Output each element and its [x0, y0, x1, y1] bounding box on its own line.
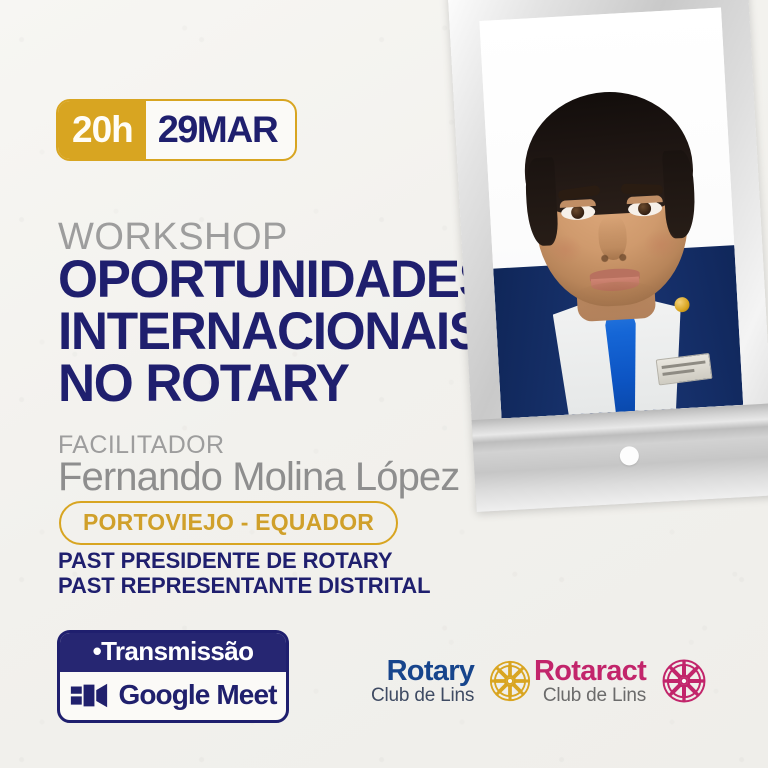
google-meet-label: Google Meet	[118, 679, 276, 711]
google-meet-icon	[69, 681, 109, 710]
transmission-badge: •Transmissão Google Meet	[57, 630, 289, 723]
facilitator-photo-frame	[448, 0, 768, 512]
event-hour: 20h	[57, 100, 146, 160]
rotary-club-subtitle: Club de Lins	[371, 686, 474, 705]
google-meet-row: Google Meet	[60, 672, 286, 720]
rotaract-club-name: Rotaract	[534, 657, 646, 687]
event-date: 29 MAR	[146, 101, 295, 159]
event-flyer: 20h 29 MAR WORKSHOP OPORTUNIDADES INTERN…	[0, 0, 768, 768]
event-month: MAR	[197, 109, 278, 151]
photo-frame-border	[448, 0, 768, 512]
page-title: OPORTUNIDADES INTERNACIONAIS NO ROTARY	[58, 254, 492, 410]
transmission-label: •Transmissão	[60, 633, 286, 672]
title-line-1: OPORTUNIDADES	[58, 254, 492, 306]
date-badge: 20h 29 MAR	[56, 99, 297, 161]
photo-window	[479, 8, 743, 419]
credential-line-1: PAST PRESIDENTE DE ROTARY	[58, 549, 430, 574]
facilitator-credentials: PAST PRESIDENTE DE ROTARY PAST REPRESENT…	[58, 549, 430, 598]
event-day: 29	[158, 109, 197, 152]
facilitator-location-badge: PORTOVIEJO - EQUADOR	[59, 501, 398, 545]
rotaract-club-subtitle: Club de Lins	[534, 686, 646, 705]
rotaract-club-text: Rotaract Club de Lins	[534, 657, 646, 706]
credential-line-2: PAST REPRESENTANTE DISTRITAL	[58, 574, 430, 599]
rotary-club-logo: Rotary Club de Lins	[371, 652, 539, 710]
rotary-club-name: Rotary	[371, 657, 474, 687]
rotary-wheel-icon	[481, 652, 539, 710]
facilitator-name: Fernando Molina López	[58, 455, 459, 500]
title-line-3: NO ROTARY	[58, 358, 492, 410]
rotaract-club-logo: Rotaract Club de Lins	[534, 650, 715, 712]
facilitator-portrait-photo	[479, 8, 743, 419]
rotaract-wheel-icon	[653, 650, 715, 712]
title-line-2: INTERNACIONAIS	[58, 306, 492, 358]
rotary-club-text: Rotary Club de Lins	[371, 657, 474, 706]
